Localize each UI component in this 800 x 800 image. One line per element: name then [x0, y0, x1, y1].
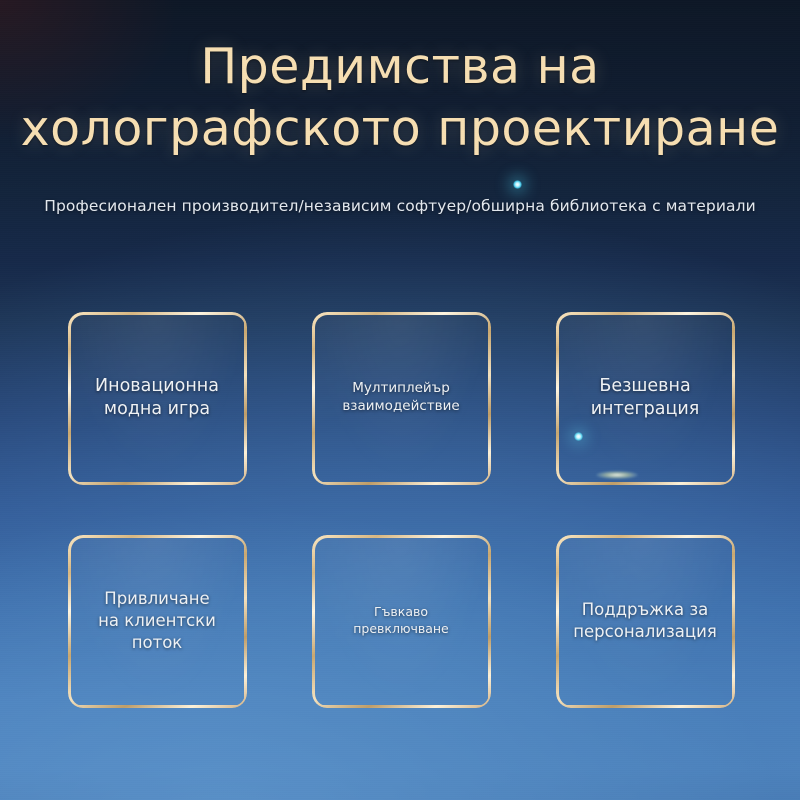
feature-card-label: Иновационна модна игра — [85, 375, 229, 422]
feature-card-label-line: Гъвкаво — [353, 604, 449, 621]
feature-card-label-line: модна игра — [95, 398, 219, 421]
title-line-2: холографското проектиране — [0, 98, 800, 160]
feature-card-label-line: превключване — [353, 621, 449, 638]
poster-canvas: Предимства на холографското проектиране … — [0, 0, 800, 800]
subtitle: Професионален производител/независим соф… — [0, 197, 800, 215]
feature-card-label-line: Мултиплейър — [342, 380, 459, 398]
feature-card-label-line: на клиентски — [98, 610, 216, 632]
feature-card-grid: Иновационна модна игра Мултиплейър взаим… — [68, 312, 734, 707]
title-line-1: Предимства на — [0, 36, 800, 98]
feature-card-label: Безшевна интеграция — [581, 375, 710, 422]
feature-card-flexible-switching[interactable]: Гъвкаво превключване — [312, 535, 490, 707]
feature-card-seamless-integration[interactable]: Безшевна интеграция — [556, 312, 734, 484]
glow-particle-icon — [513, 180, 522, 189]
feature-card-multiplayer-interaction[interactable]: Мултиплейър взаимодействие — [312, 312, 490, 484]
feature-card-label-line: персонализация — [573, 621, 717, 643]
feature-card-label-line: Иновационна — [95, 375, 219, 398]
feature-card-customization-support[interactable]: Поддръжка за персонализация — [556, 535, 734, 707]
feature-card-label: Гъвкаво превключване — [343, 604, 459, 637]
feature-card-label-line: Привличане — [98, 588, 216, 610]
feature-card-row-1: Иновационна модна игра Мултиплейър взаим… — [68, 312, 734, 484]
feature-card-label: Привличане на клиентски поток — [88, 588, 226, 654]
feature-card-label-line: поток — [98, 632, 216, 654]
feature-card-innovative-fashion-game[interactable]: Иновационна модна игра — [68, 312, 246, 484]
page-title: Предимства на холографското проектиране — [0, 36, 800, 160]
feature-card-label: Поддръжка за персонализация — [563, 599, 727, 643]
feature-card-row-2: Привличане на клиентски поток Гъвкаво пр… — [68, 535, 734, 707]
feature-card-label-line: Поддръжка за — [573, 599, 717, 621]
feature-card-label: Мултиплейър взаимодействие — [332, 380, 469, 416]
feature-card-label-line: Безшевна — [591, 375, 700, 398]
feature-card-attract-customer-flow[interactable]: Привличане на клиентски поток — [68, 535, 246, 707]
feature-card-label-line: взаимодействие — [342, 398, 459, 416]
feature-card-label-line: интеграция — [591, 398, 700, 421]
